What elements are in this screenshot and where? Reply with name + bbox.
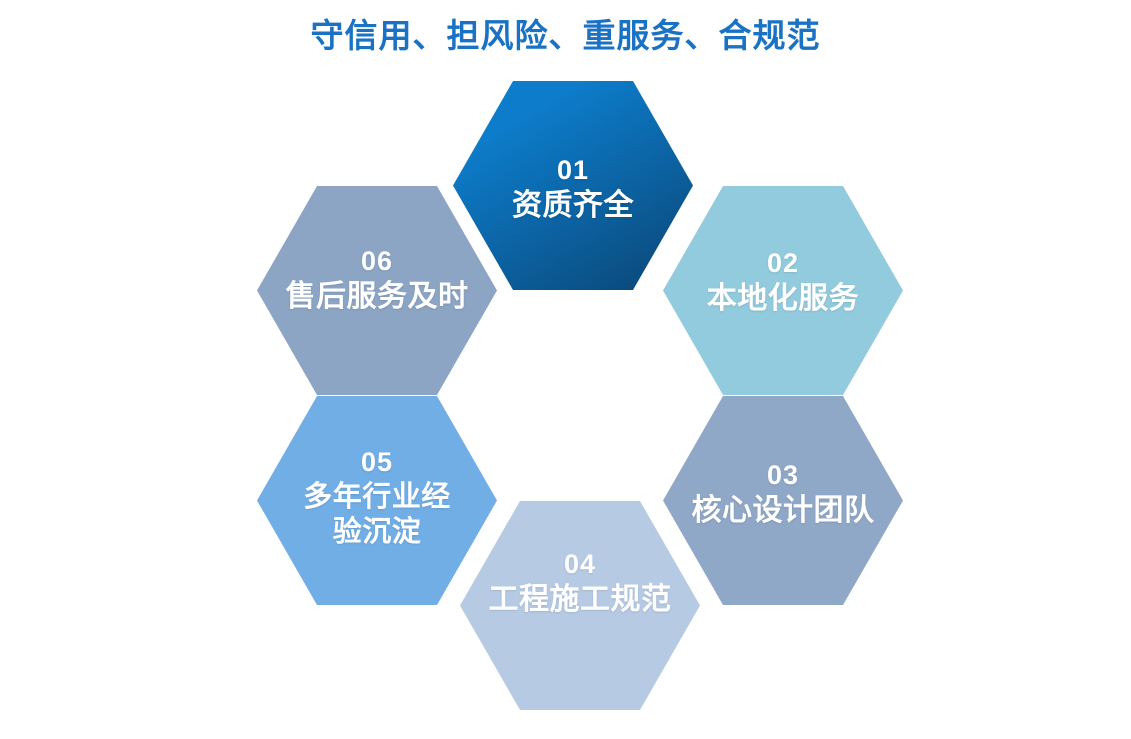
hexagon-label-01: 资质齐全 (471, 188, 675, 225)
hexagon-number-05: 05 (275, 446, 479, 480)
hexagon-item-03[interactable]: 03 核心设计团队 (663, 396, 903, 605)
hexagon-item-06[interactable]: 06 售后服务及时 (257, 186, 497, 395)
hexagon-label-03: 核心设计团队 (681, 493, 885, 530)
hexagon-item-05[interactable]: 05 多年行业经 验沉淀 (257, 396, 497, 605)
hexagon-number-04: 04 (478, 548, 682, 582)
hexagon-text-block-05: 05 多年行业经 验沉淀 (257, 446, 497, 551)
hexagon-number-06: 06 (275, 245, 479, 279)
hexagon-text-block-04: 04 工程施工规范 (460, 548, 700, 618)
hexagon-text-block-02: 02 本地化服务 (663, 247, 903, 317)
hexagon-item-01[interactable]: 01 资质齐全 (453, 81, 693, 290)
hexagon-text-block-03: 03 核心设计团队 (663, 459, 903, 529)
hexagon-label-04: 工程施工规范 (478, 582, 682, 619)
hexagon-label-02: 本地化服务 (681, 281, 885, 318)
hexagon-honeycomb-diagram: 01 资质齐全 02 本地化服务 03 核心设计团队 04 工程施工规范 (0, 0, 1131, 739)
hexagon-item-04[interactable]: 04 工程施工规范 (460, 501, 700, 710)
hexagon-number-03: 03 (681, 459, 885, 493)
hexagon-label-05: 多年行业经 验沉淀 (275, 480, 479, 551)
hexagon-number-02: 02 (681, 247, 885, 281)
hexagon-text-block-06: 06 售后服务及时 (257, 245, 497, 315)
hexagon-label-06: 售后服务及时 (275, 279, 479, 316)
hexagon-number-01: 01 (471, 154, 675, 188)
hexagon-text-block-01: 01 资质齐全 (453, 154, 693, 224)
slide-canvas: 守信用、担风险、重服务、合规范 01 资质齐全 02 本地化服务 03 核心设计… (0, 0, 1131, 739)
hexagon-item-02[interactable]: 02 本地化服务 (663, 186, 903, 395)
